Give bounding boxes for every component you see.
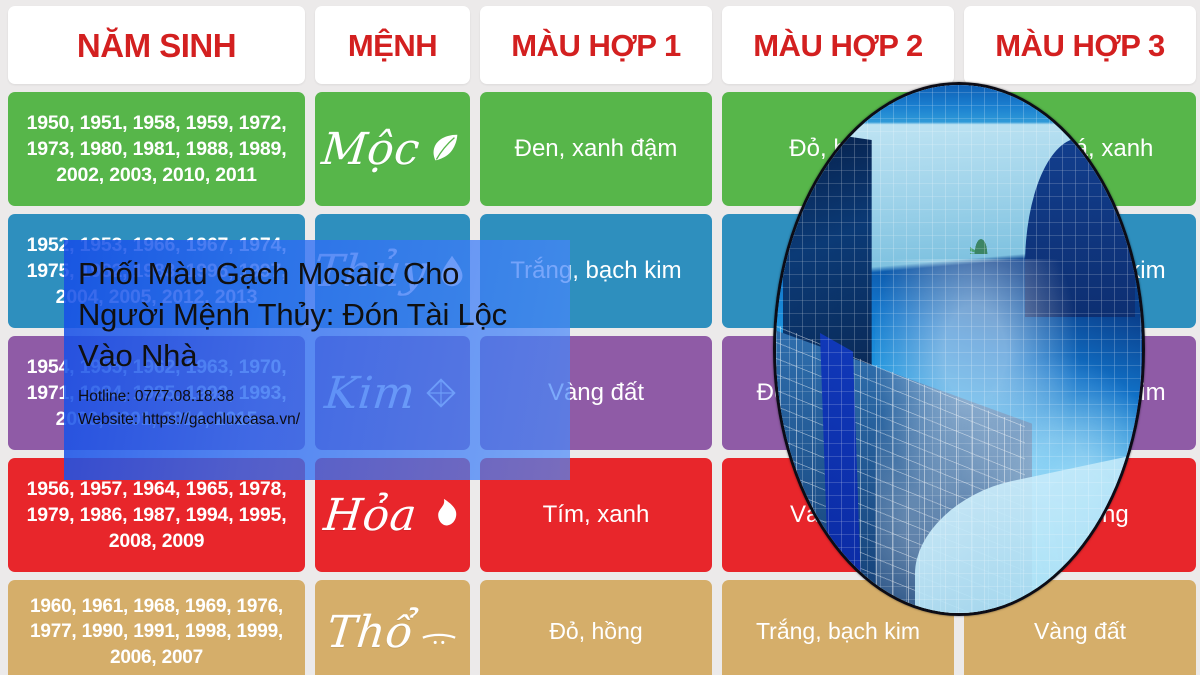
header-cell-mau-hop-3: MÀU HỢP 3 [964, 6, 1196, 84]
overlay-title: Phối Màu Gạch Mosaic Cho Người Mệnh Thủy… [78, 254, 554, 377]
overlay-contact: Hotline: 0777.08.18.38 Website: https://… [78, 385, 554, 432]
cell-color-1: Đỏ, hồng [480, 580, 712, 675]
page-root: NĂM SINH MỆNH MÀU HỢP 1 MÀU HỢP 2 MÀU HỢ… [0, 0, 1200, 675]
cell-element: Thổ [315, 580, 470, 675]
header-label: MỆNH [348, 30, 437, 61]
flame-icon [423, 496, 461, 534]
header-label: MÀU HỢP 1 [511, 30, 681, 61]
cell-years: 1960, 1961, 1968, 1969, 1976, 1977, 1990… [8, 580, 305, 675]
cell-color-1: Đen, xanh đậm [480, 92, 712, 206]
element-name-hoa: Hỏa [322, 490, 420, 541]
header-cell-menh: MỆNH [315, 6, 470, 84]
element-name-tho: Thổ [325, 607, 416, 658]
header-cell-mau-hop-1: MÀU HỢP 1 [480, 6, 712, 84]
cell-element: Mộc [315, 92, 470, 206]
cell-years: 1950, 1951, 1958, 1959, 1972, 1973, 1980… [8, 92, 305, 206]
overlay-hotline: Hotline: 0777.08.18.38 [78, 385, 554, 408]
earth-mound-icon [420, 613, 458, 651]
table-header-row: NĂM SINH MỆNH MÀU HỢP 1 MÀU HỢP 2 MÀU HỢ… [8, 6, 1192, 84]
header-cell-mau-hop-2: MÀU HỢP 2 [722, 6, 954, 84]
header-label: MÀU HỢP 2 [753, 30, 923, 61]
overlay-website: Website: https://gachluxcasa.vn/ [78, 408, 554, 431]
element-name-moc: Mộc [319, 124, 422, 175]
leaf-icon [425, 130, 463, 168]
swimming-pool-mosaic-photo [773, 82, 1145, 616]
header-label: MÀU HỢP 3 [995, 30, 1165, 61]
pool-tile-grid [776, 85, 1142, 613]
header-label: NĂM SINH [77, 29, 236, 62]
caption-overlay-panel: Phối Màu Gạch Mosaic Cho Người Mệnh Thủy… [64, 240, 570, 480]
header-cell-nam-sinh: NĂM SINH [8, 6, 305, 84]
pool-image-content [776, 85, 1142, 613]
